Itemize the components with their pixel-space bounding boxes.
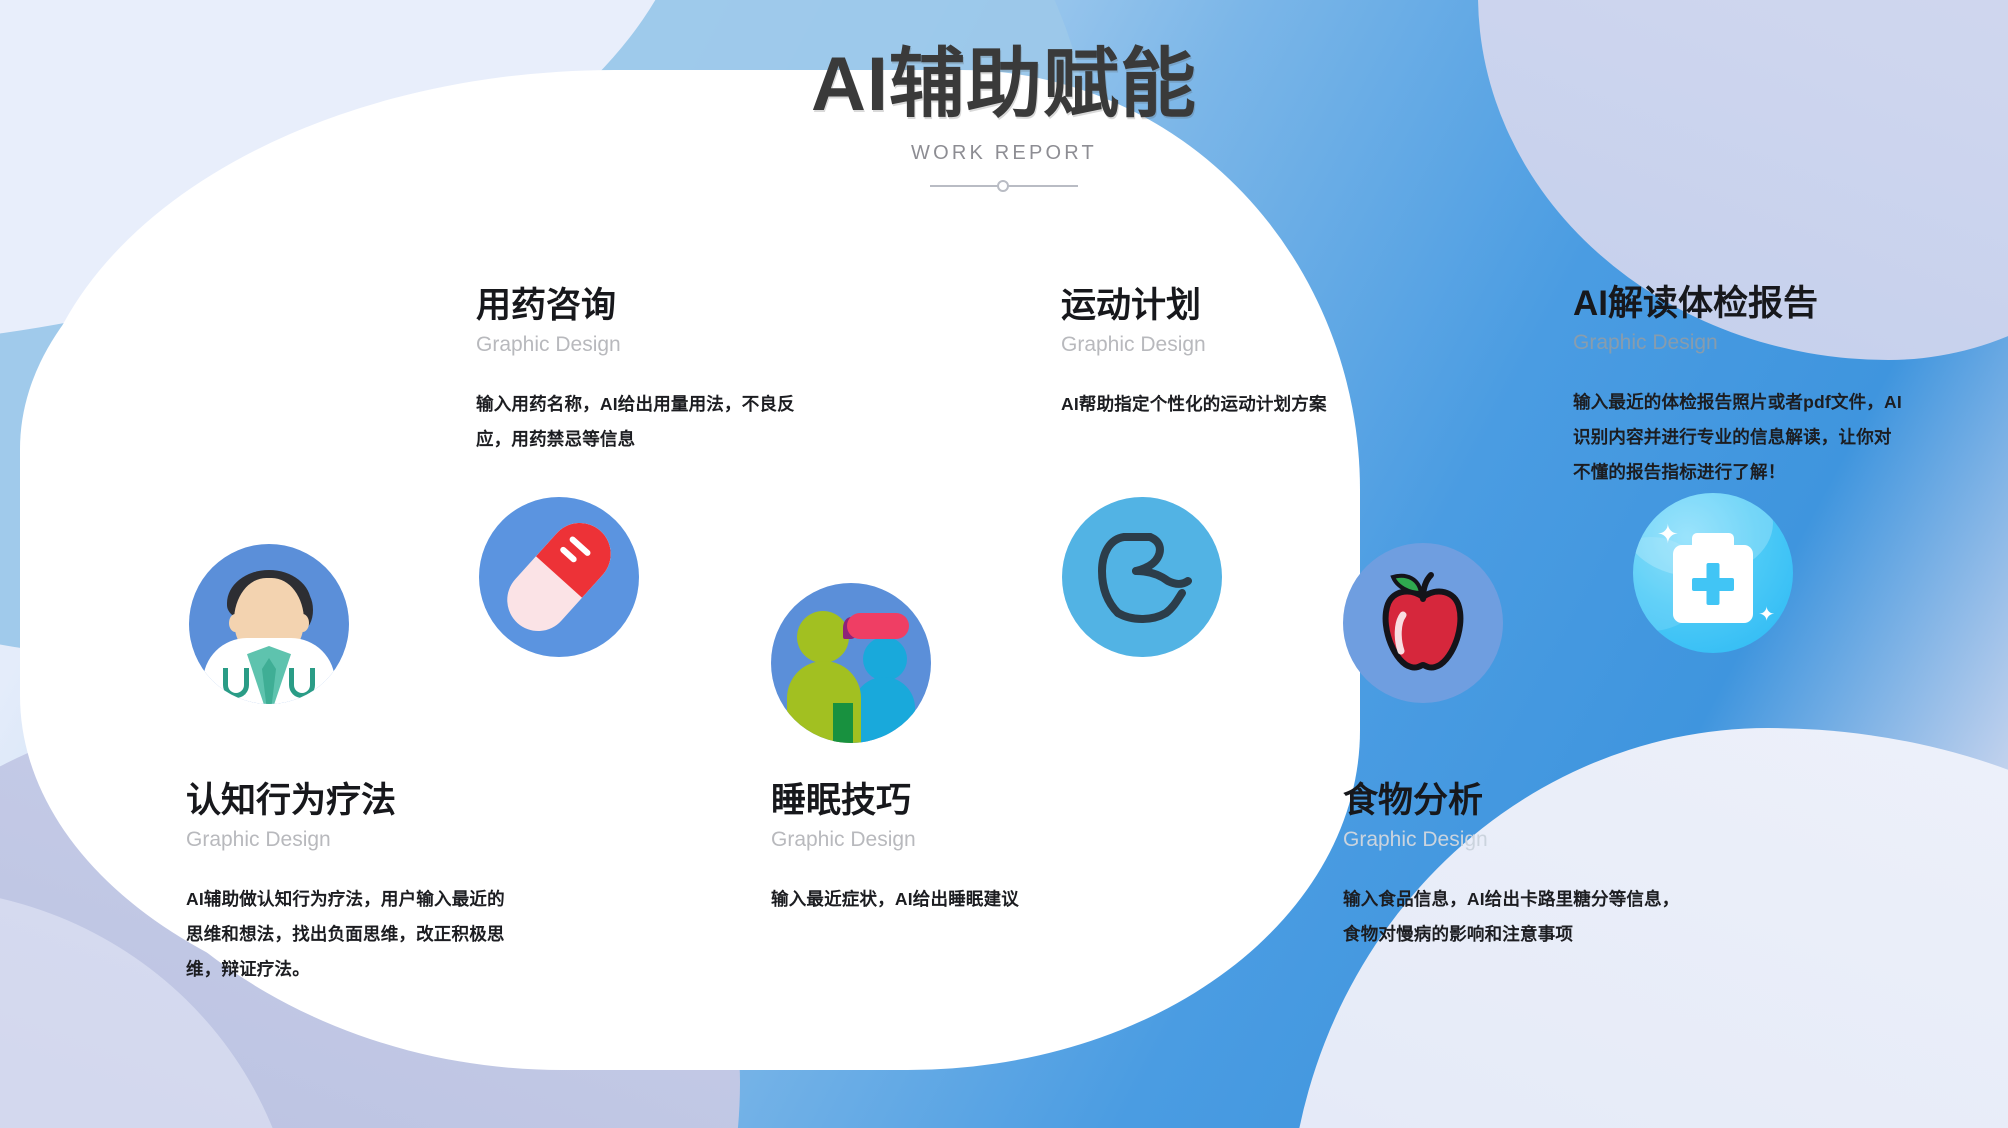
sparkle-icon-bottom: ✦ <box>1758 605 1775 625</box>
card-subtitle: Graphic Design <box>771 827 1101 852</box>
divider-dot-icon <box>997 180 1009 192</box>
capsule-shape <box>494 510 623 644</box>
biceps-glyph <box>1088 527 1196 627</box>
card-subtitle: Graphic Design <box>1343 827 1683 852</box>
card-icon-ai-health-report[interactable]: ✦ ✦ <box>1633 493 1793 653</box>
card-subtitle: Graphic Design <box>186 827 516 852</box>
card-body: 输入用药名称，AI给出用量用法，不良反应，用药禁忌等信息 <box>476 387 816 457</box>
sparkle-icon-top: ✦ <box>1657 521 1679 547</box>
card-body: AI辅助做认知行为疗法，用户输入最近的思维和想法，找出负面思维，改正积极思维，辩… <box>186 882 516 987</box>
card-body: 输入最近症状，AI给出睡眠建议 <box>771 882 1101 917</box>
stethoscope-left <box>223 668 249 698</box>
doctor-icon <box>189 544 349 704</box>
person-secondary-head <box>863 637 907 681</box>
flexed-biceps-icon <box>1062 497 1222 657</box>
card-title: 食物分析 <box>1343 780 1683 821</box>
card-subtitle: Graphic Design <box>1061 332 1361 357</box>
card-cognitive-behavioral-therapy[interactable]: 认知行为疗法 Graphic Design AI辅助做认知行为疗法，用户输入最近… <box>186 780 516 987</box>
card-title: 睡眠技巧 <box>771 780 1101 821</box>
medical-cross-horizontal <box>1692 578 1734 591</box>
page-subtitle: WORK REPORT <box>0 142 2008 165</box>
pill-icon <box>479 497 639 657</box>
card-icon-food-analysis[interactable] <box>1343 543 1503 703</box>
slide-root: AI辅助赋能 WORK REPORT 认知行为疗法 Graphic Design… <box>0 0 2008 1128</box>
card-title: AI解读体检报告 <box>1573 283 1903 324</box>
card-medication-consultation[interactable]: 用药咨询 Graphic Design 输入用药名称，AI给出用量用法，不良反应… <box>476 285 816 457</box>
card-icon-cognitive-behavioral-therapy[interactable] <box>189 544 349 704</box>
card-icon-exercise-plan[interactable] <box>1062 497 1222 657</box>
card-body: 输入最近的体检报告照片或者pdf文件，AI识别内容并进行专业的信息解读，让你对不… <box>1573 385 1903 490</box>
capsule-top-half <box>536 510 624 598</box>
card-body: 输入食品信息，AI给出卡路里糖分等信息，食物对慢病的影响和注意事项 <box>1343 882 1683 952</box>
stethoscope-right <box>289 668 315 698</box>
card-title: 运动计划 <box>1061 285 1361 326</box>
card-ai-health-report[interactable]: AI解读体检报告 Graphic Design 输入最近的体检报告照片或者pdf… <box>1573 283 1903 490</box>
card-title: 认知行为疗法 <box>186 780 516 821</box>
clipboard-clip <box>1692 533 1734 551</box>
page-title: AI辅助赋能 <box>0 44 2008 126</box>
card-icon-medication-consultation[interactable] <box>479 497 639 657</box>
people-talking-icon <box>771 583 931 743</box>
card-title: 用药咨询 <box>476 285 816 326</box>
apple-icon <box>1343 543 1503 703</box>
card-body: AI帮助指定个性化的运动计划方案 <box>1061 387 1361 422</box>
card-exercise-plan[interactable]: 运动计划 Graphic Design AI帮助指定个性化的运动计划方案 <box>1061 285 1361 422</box>
person-secondary-body <box>853 677 915 743</box>
person-primary-head <box>797 611 849 663</box>
card-icon-sleep-tips[interactable] <box>771 583 931 743</box>
header-divider <box>930 179 1078 193</box>
card-subtitle: Graphic Design <box>1573 330 1903 355</box>
speech-bubble <box>847 613 909 639</box>
card-sleep-tips[interactable]: 睡眠技巧 Graphic Design 输入最近症状，AI给出睡眠建议 <box>771 780 1101 917</box>
apple-glyph <box>1373 571 1473 675</box>
person-primary-overlap <box>833 703 853 743</box>
slide-header: AI辅助赋能 WORK REPORT <box>0 44 2008 193</box>
card-food-analysis[interactable]: 食物分析 Graphic Design 输入食品信息，AI给出卡路里糖分等信息，… <box>1343 780 1683 952</box>
medical-clipboard-icon: ✦ ✦ <box>1633 493 1793 653</box>
card-subtitle: Graphic Design <box>476 332 816 357</box>
